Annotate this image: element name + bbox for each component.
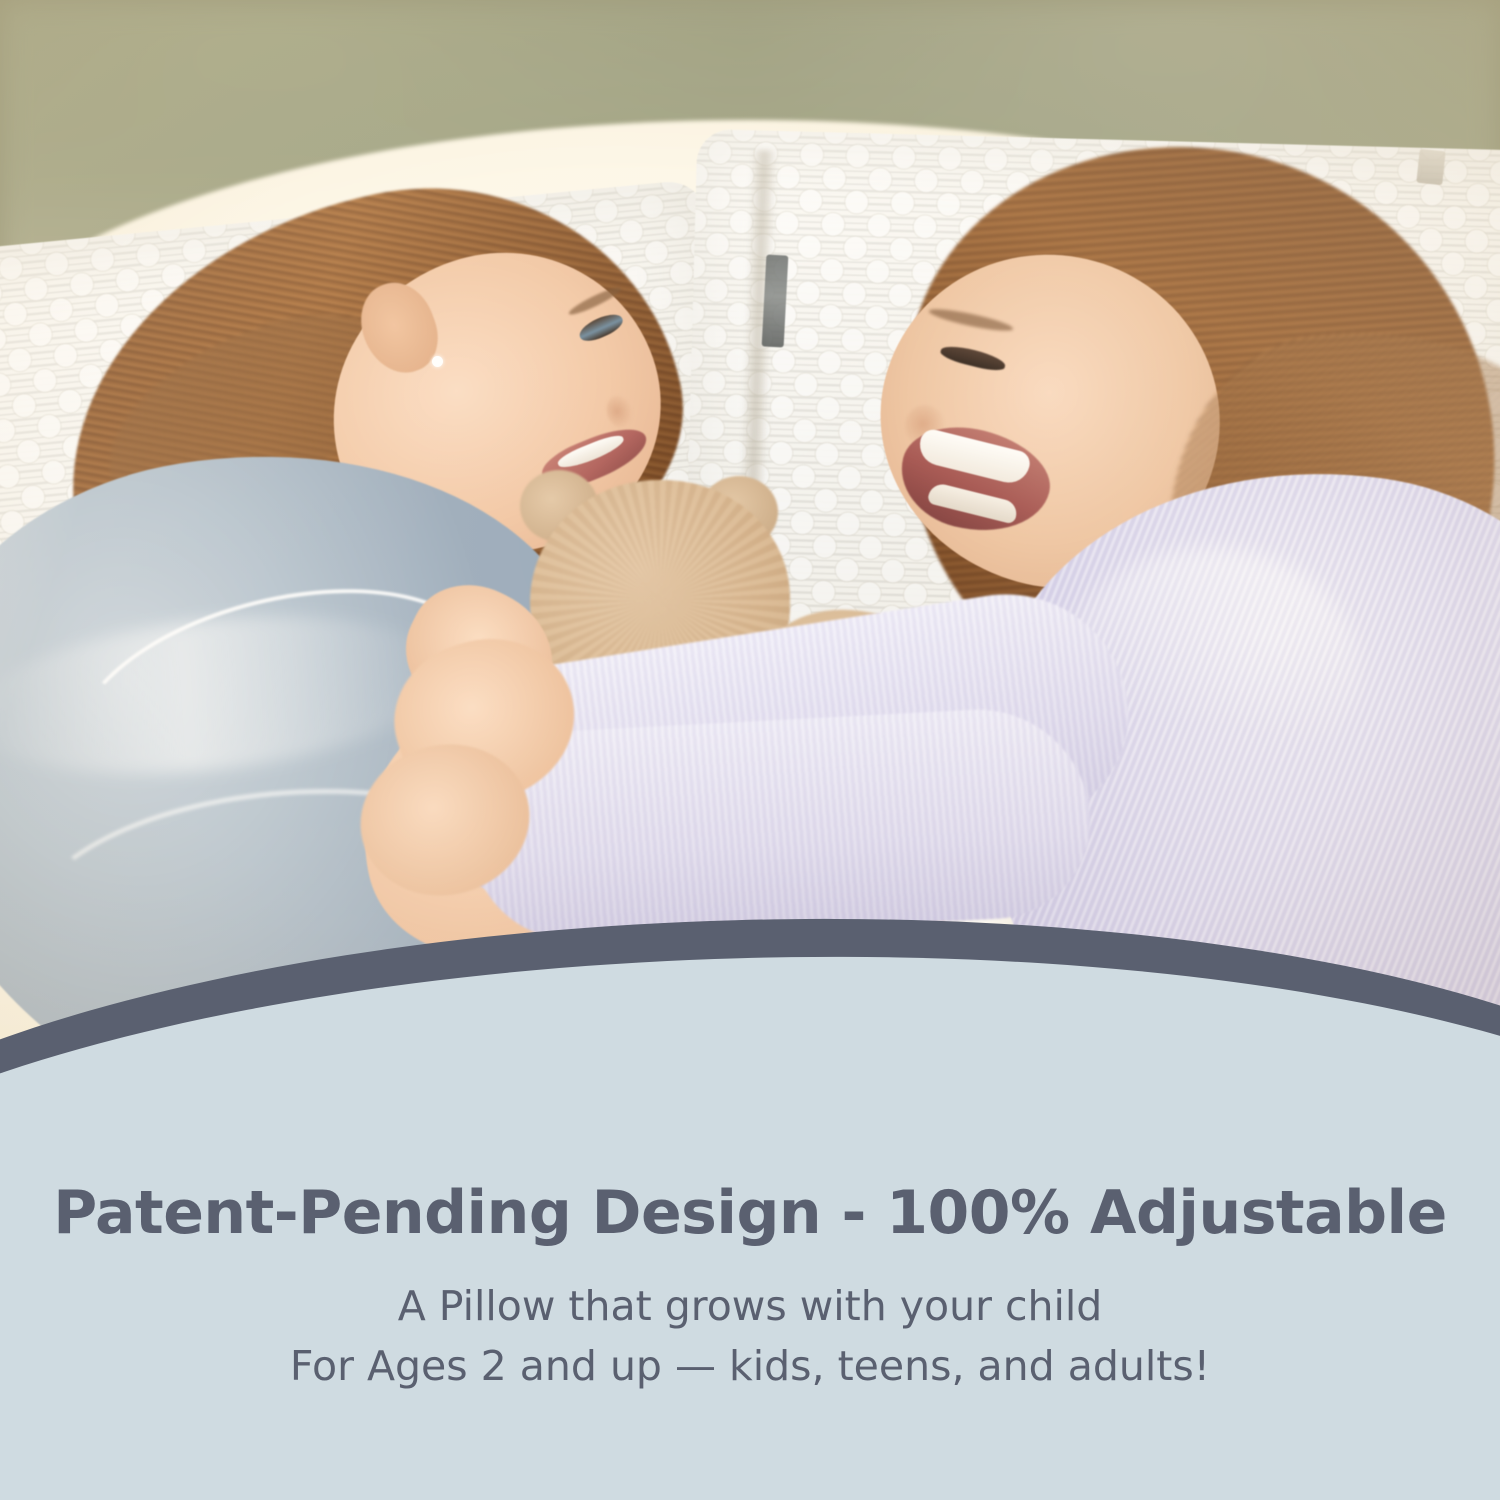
- banner-subline-2: For Ages 2 and up — kids, teens, and adu…: [0, 1337, 1500, 1395]
- banner-text-block: Patent-Pending Design - 100% Adjustable …: [0, 1180, 1500, 1396]
- banner-headline: Patent-Pending Design - 100% Adjustable: [0, 1180, 1500, 1247]
- pillow-corner-tag: [1416, 149, 1445, 186]
- banner-subline-1: A Pillow that grows with your child: [0, 1277, 1500, 1335]
- left-child-earring: [432, 356, 443, 367]
- product-lifestyle-banner: Patent-Pending Design - 100% Adjustable …: [0, 0, 1500, 1500]
